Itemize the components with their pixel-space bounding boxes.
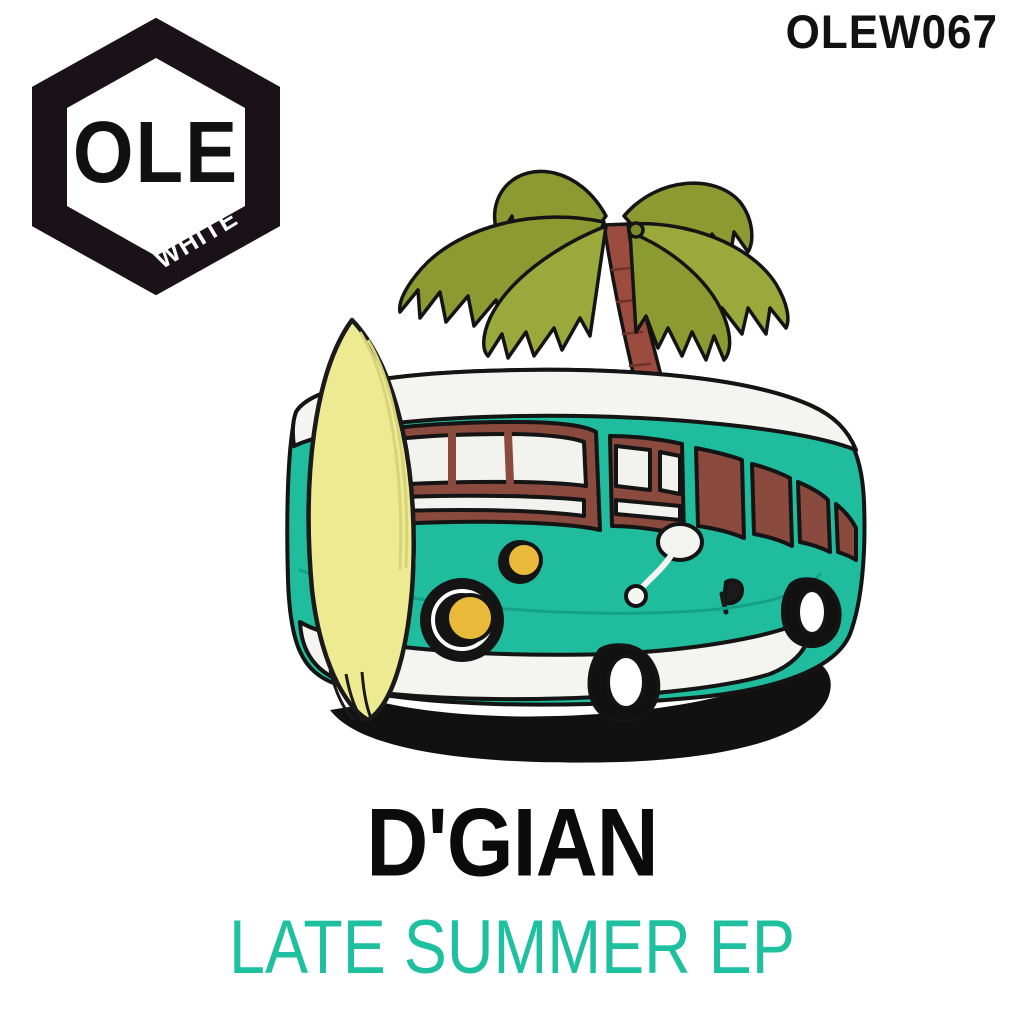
album-cover: OLEW067 OLE WHITE bbox=[0, 0, 1024, 1024]
rear-wheel bbox=[783, 579, 840, 646]
release-title: LATE SUMMER EP bbox=[26, 909, 999, 985]
artwork-illustration bbox=[0, 150, 1024, 790]
front-wheel bbox=[590, 645, 659, 721]
catalog-number: OLEW067 bbox=[786, 6, 998, 60]
turn-signal-upper bbox=[500, 542, 541, 582]
artist-name: D'GIAN bbox=[0, 795, 1024, 891]
title-block: D'GIAN LATE SUMMER EP bbox=[0, 795, 1024, 977]
headlight bbox=[422, 580, 502, 660]
palm-tree-icon bbox=[400, 171, 788, 402]
